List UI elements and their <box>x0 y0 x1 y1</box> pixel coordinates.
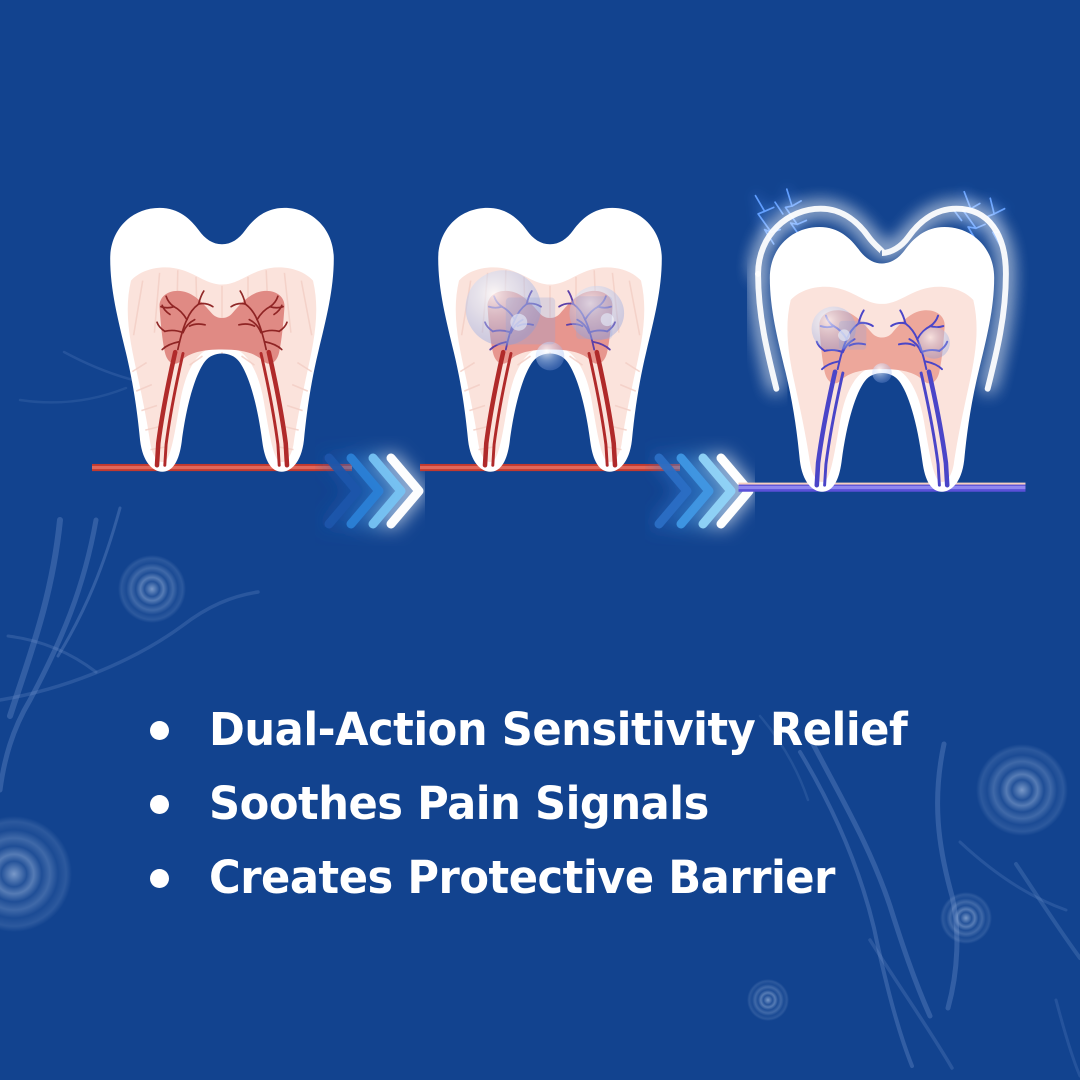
tooth-stage-3-protected <box>732 120 1032 570</box>
bullet-dot-icon <box>150 869 169 888</box>
tooth-stage-1-sensitive <box>92 120 352 570</box>
bullet-dot-icon <box>150 795 169 814</box>
nerve-trunk-stage-3 <box>739 455 1026 492</box>
benefit-item-1: Dual-Action Sensitivity Relief <box>150 694 1010 764</box>
arrow-stage-1-to-2 <box>315 436 425 546</box>
nerve-trunk-stage-1 <box>92 437 352 471</box>
nerve-trunk-stage-2 <box>420 437 680 471</box>
infographic-canvas: Dual-Action Sensitivity Relief Soothes P… <box>0 0 1080 1080</box>
tooth-stage-row <box>0 120 1080 570</box>
benefit-item-3: Creates Protective Barrier <box>150 842 1010 912</box>
tooth-stage-2-treating <box>420 120 680 570</box>
benefit-label-1: Dual-Action Sensitivity Relief <box>209 707 907 752</box>
bullet-dot-icon <box>150 721 169 740</box>
benefit-label-3: Creates Protective Barrier <box>209 855 835 900</box>
benefits-list: Dual-Action Sensitivity Relief Soothes P… <box>150 694 1010 916</box>
benefit-item-2: Soothes Pain Signals <box>150 768 1010 838</box>
benefit-label-2: Soothes Pain Signals <box>209 781 709 826</box>
